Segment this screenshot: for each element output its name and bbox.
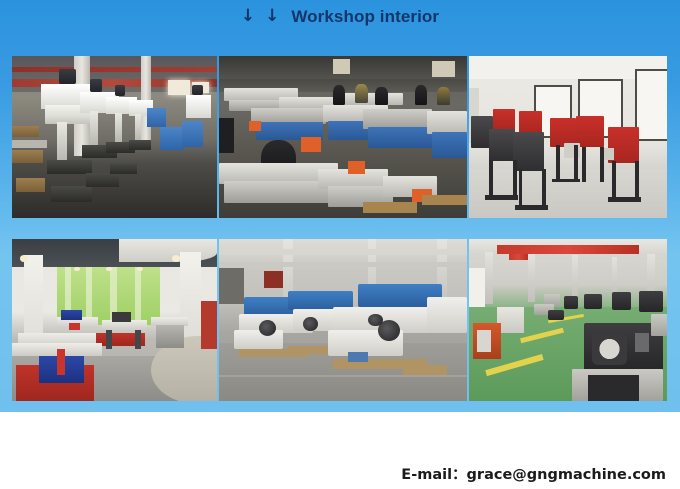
- page-title: Workshop interior: [291, 8, 439, 25]
- footer-area: E-mail：grace@gngmachine.com: [0, 412, 680, 489]
- header-bar: ↓ ↓ Workshop interior: [0, 0, 680, 52]
- gallery-row-top: [12, 56, 667, 218]
- down-arrow-icon: ↓: [241, 8, 255, 25]
- down-arrow-icon-2: ↓: [265, 8, 279, 25]
- photo-red-machines-showroom[interactable]: [469, 56, 667, 218]
- page-root: ↓ ↓ Workshop interior: [0, 0, 680, 489]
- photo-exhibition-hall[interactable]: [12, 239, 217, 401]
- photo-drill-press-line[interactable]: [12, 56, 217, 218]
- photo-lathe-assembly[interactable]: [219, 56, 467, 218]
- contact-email: E-mail：grace@gngmachine.com: [401, 463, 666, 484]
- photo-green-floor-factory[interactable]: [469, 239, 667, 401]
- photo-grinders-on-pallets[interactable]: [219, 239, 467, 401]
- gallery-row-bottom: [12, 239, 667, 401]
